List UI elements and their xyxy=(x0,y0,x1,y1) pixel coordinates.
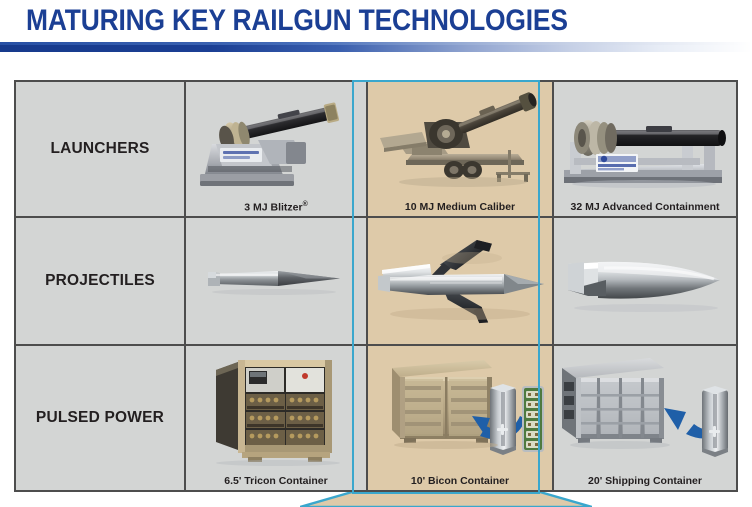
caption-launchers-blitzer: 3 MJ Blitzer® xyxy=(186,201,366,214)
cell-pulsed-power-shipping[interactable]: 20' Shipping Container xyxy=(554,346,736,490)
title-divider-bar xyxy=(0,42,752,52)
caption-text: 6.5' Tricon Container xyxy=(224,475,327,487)
caption-pulsed-power-bicon: 10' Bicon Container xyxy=(368,475,552,487)
technology-matrix: LAUNCHERS xyxy=(14,80,738,492)
registered-trademark-icon: ® xyxy=(303,201,308,208)
projectile-large-ogive-image xyxy=(554,218,736,344)
row-label-launchers-text: LAUNCHERS xyxy=(50,140,149,158)
pulsed-power-shipping-container-image xyxy=(554,346,736,468)
row-label-pulsed-power-text: PULSED POWER xyxy=(36,409,164,427)
row-label-projectiles-text: PROJECTILES xyxy=(45,272,155,290)
caption-text: 10' Bicon Container xyxy=(411,475,509,487)
railgun-launcher-trailer-image xyxy=(368,82,552,194)
cell-projectiles-large-ogive[interactable] xyxy=(554,218,736,346)
projectile-sabot-separating-image xyxy=(368,218,552,344)
pulsed-power-tricon-container-image xyxy=(186,346,366,468)
cell-pulsed-power-bicon[interactable]: 10' Bicon Container xyxy=(368,346,554,490)
caption-text: 10 MJ Medium Caliber xyxy=(405,201,515,213)
row-label-launchers: LAUNCHERS xyxy=(16,82,186,218)
caption-launchers-advanced-containment: 32 MJ Advanced Containment xyxy=(554,201,736,213)
cell-projectiles-slim-dart[interactable] xyxy=(186,218,368,346)
caption-launchers-medium-caliber: 10 MJ Medium Caliber xyxy=(368,201,552,213)
caption-text: 20' Shipping Container xyxy=(588,475,702,487)
row-label-projectiles: PROJECTILES xyxy=(16,218,186,346)
caption-text: 32 MJ Advanced Containment xyxy=(571,201,720,213)
cell-launchers-medium-caliber[interactable]: 10 MJ Medium Caliber xyxy=(368,82,554,218)
railgun-launcher-blitzer-image xyxy=(186,82,366,194)
caption-text: 3 MJ Blitzer xyxy=(244,201,302,213)
row-label-pulsed-power: PULSED POWER xyxy=(16,346,186,490)
railgun-launcher-advanced-containment-image xyxy=(554,82,736,194)
cell-pulsed-power-tricon[interactable]: 6.5' Tricon Container xyxy=(186,346,368,490)
cell-projectiles-sabot[interactable] xyxy=(368,218,554,346)
projectile-slim-dart-image xyxy=(186,218,366,344)
cell-launchers-blitzer[interactable]: 3 MJ Blitzer® xyxy=(186,82,368,218)
caption-pulsed-power-tricon: 6.5' Tricon Container xyxy=(186,475,366,487)
cell-launchers-advanced-containment[interactable]: 32 MJ Advanced Containment xyxy=(554,82,736,218)
pulsed-power-bicon-container-image xyxy=(368,346,552,468)
page-title: MATURING KEY RAILGUN TECHNOLOGIES xyxy=(26,4,568,38)
caption-pulsed-power-shipping: 20' Shipping Container xyxy=(554,475,736,487)
